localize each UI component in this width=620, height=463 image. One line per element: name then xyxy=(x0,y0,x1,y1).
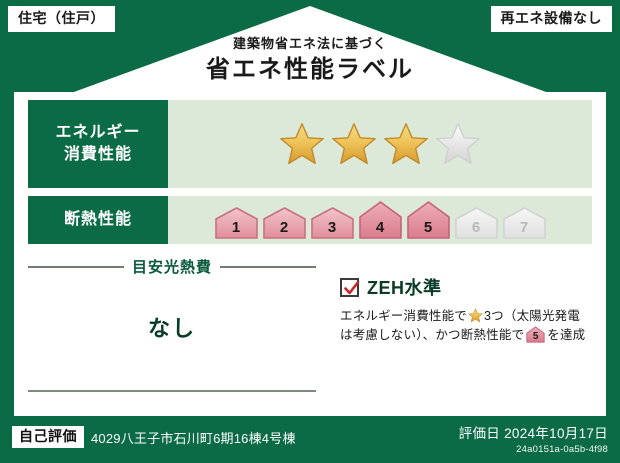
zeh-desc-part3: を達成 xyxy=(547,328,585,342)
star-rating xyxy=(279,122,481,166)
insulation-level-value: 4 xyxy=(358,220,403,235)
utility-cost-bottom-rule xyxy=(28,390,316,392)
star-icon xyxy=(468,308,483,323)
utility-cost-header: 目安光熱費 xyxy=(28,256,316,277)
insulation-label-text: 断熱性能 xyxy=(64,209,132,231)
insulation-level-value: 5 xyxy=(526,332,545,342)
zeh-desc-star-count: 3つ（太陽光発電 xyxy=(484,309,580,323)
insulation-level-badge: 2 xyxy=(262,206,307,240)
rule-left xyxy=(28,266,124,268)
footer-left-group: 自己評価 4029八王子市石川町6期16棟4号棟 xyxy=(12,426,296,448)
star-icon-empty xyxy=(435,122,481,166)
utility-cost-heading: 目安光熱費 xyxy=(132,256,212,277)
body-panel: エネルギー 消費性能 xyxy=(14,92,606,416)
evaluation-date: 評価日 2024年10月17日 xyxy=(459,422,608,442)
insulation-level-badge: 4 xyxy=(358,200,403,240)
bottom-columns: 目安光熱費 なし ZEH水準 エネルギー消費性能で3つ（太陽光発電 xyxy=(28,252,592,408)
badge-building-type: 住宅（住戸） xyxy=(8,6,115,32)
insulation-performance-row: 断熱性能 1 xyxy=(28,196,592,244)
insulation-level-badge: 1 xyxy=(214,206,259,240)
zeh-section: ZEH水準 エネルギー消費性能で3つ（太陽光発電 は考慮しない）、かつ断熱性能で… xyxy=(326,252,592,408)
insulation-level-value: 2 xyxy=(262,220,307,235)
zeh-title: ZEH水準 xyxy=(367,274,442,300)
insulation-levels-container: 1 2 3 xyxy=(168,196,592,244)
property-address: 4029八王子市石川町6期16棟4号棟 xyxy=(91,428,296,447)
energy-label-line1: エネルギー xyxy=(55,122,140,144)
rule-right xyxy=(220,266,316,268)
insulation-level-value: 7 xyxy=(502,220,547,235)
insulation-level-scale: 1 2 3 xyxy=(214,200,547,240)
star-icon xyxy=(383,122,429,166)
insulation-level-badge: 3 xyxy=(310,206,355,240)
label-identifier: 24a0151a-0a5b-4f98 xyxy=(459,444,608,455)
header-title-group: 建築物省エネ法に基づく 省エネ性能ラベル xyxy=(0,36,620,85)
insulation-level-value: 3 xyxy=(310,220,355,235)
utility-cost-value: なし xyxy=(28,311,316,343)
energy-label-line2: 消費性能 xyxy=(64,144,132,166)
energy-stars-container xyxy=(168,100,592,188)
zeh-desc-part2: は考慮しない）、かつ断熱性能で xyxy=(340,328,524,342)
insulation-performance-label: 断熱性能 xyxy=(28,196,168,244)
insulation-level-badge-inline: 5 xyxy=(526,326,545,343)
star-icon xyxy=(279,122,325,166)
insulation-level-value: 5 xyxy=(406,220,451,235)
star-icon xyxy=(331,122,377,166)
insulation-level-value: 6 xyxy=(454,220,499,235)
energy-performance-label: エネルギー 消費性能 xyxy=(28,100,168,188)
zeh-desc-part1: エネルギー消費性能で xyxy=(340,309,467,323)
self-evaluation-badge: 自己評価 xyxy=(12,426,84,448)
zeh-checkbox[interactable] xyxy=(340,278,359,297)
insulation-level-value: 1 xyxy=(214,220,259,235)
page-subtitle: 建築物省エネ法に基づく xyxy=(0,36,620,52)
page-title: 省エネ性能ラベル xyxy=(0,55,620,85)
check-icon xyxy=(343,280,360,297)
insulation-level-badge-inactive: 7 xyxy=(502,206,547,240)
energy-performance-label: 住宅（住戸） 再エネ設備なし 建築物省エネ法に基づく 省エネ性能ラベル エネルギ… xyxy=(0,0,620,463)
zeh-description: エネルギー消費性能で3つ（太陽光発電 は考慮しない）、かつ断熱性能で5を達成 xyxy=(340,307,592,346)
insulation-level-badge: 5 xyxy=(406,200,451,240)
insulation-level-badge-inactive: 6 xyxy=(454,206,499,240)
footer-band: 自己評価 4029八王子市石川町6期16棟4号棟 評価日 2024年10月17日… xyxy=(0,416,620,463)
utility-cost-section: 目安光熱費 なし xyxy=(28,252,326,408)
zeh-header: ZEH水準 xyxy=(340,274,592,300)
energy-performance-row: エネルギー 消費性能 xyxy=(28,100,592,188)
badge-renewable-energy: 再エネ設備なし xyxy=(491,6,613,32)
footer-right-group: 評価日 2024年10月17日 24a0151a-0a5b-4f98 xyxy=(459,422,608,455)
